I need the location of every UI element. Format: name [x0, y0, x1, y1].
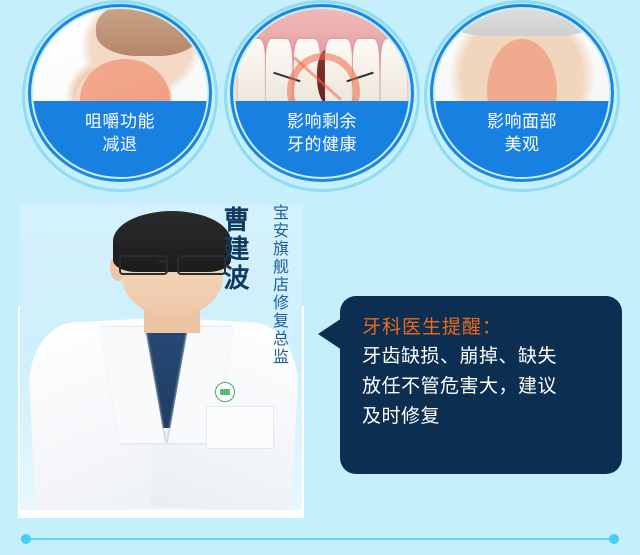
- doctor-name: 曹建波: [212, 206, 254, 293]
- divider-dot-right-icon: [609, 534, 619, 544]
- oval-image-clip: 咀嚼功能 减退: [33, 9, 207, 177]
- card-label-line2: 牙的健康: [235, 133, 409, 156]
- doctor-title: 宝安旗舰店修复总监: [258, 204, 288, 366]
- oval-image-clip: 影响剩余 牙的健康: [235, 9, 409, 177]
- card-label-line1: 影响剩余: [235, 110, 409, 133]
- oval-image-clip: 影响面部 美观: [435, 9, 609, 177]
- speech-bubble-tail: [318, 318, 342, 350]
- bubble-body: 牙齿缺损、崩掉、缺失 放任不管危害大，建议 及时修复: [362, 342, 606, 432]
- card-label-line2: 美观: [435, 133, 609, 156]
- bubble-heading: 牙科医生提醒：: [362, 314, 606, 342]
- card-label-remaining-teeth: 影响剩余 牙的健康: [235, 101, 409, 177]
- glasses-icon: [119, 255, 226, 270]
- risk-card-remaining-teeth[interactable]: 影响剩余 牙的健康: [224, 0, 420, 192]
- bubble-body-line2: 放任不管危害大，建议: [362, 372, 606, 402]
- card-label-line1: 影响面部: [435, 110, 609, 133]
- card-label-line1: 咀嚼功能: [33, 110, 207, 133]
- risk-cards-row: 咀嚼功能 减退 影响剩余 牙的健康: [0, 0, 640, 196]
- card-label-facial-appearance: 影响面部 美观: [435, 101, 609, 177]
- decorative-divider: [26, 538, 614, 540]
- clinic-logo-badge: [215, 382, 235, 402]
- risk-card-facial-appearance[interactable]: 影响面部 美观: [424, 0, 620, 192]
- bubble-body-line1: 牙齿缺损、崩掉、缺失: [362, 342, 606, 372]
- speech-bubble: 牙科医生提醒： 牙齿缺损、崩掉、缺失 放任不管危害大，建议 及时修复: [340, 296, 622, 474]
- risk-card-chewing[interactable]: 咀嚼功能 减退: [22, 0, 218, 192]
- bubble-body-line3: 及时修复: [362, 402, 606, 432]
- divider-dot-left-icon: [21, 534, 31, 544]
- card-label-chewing: 咀嚼功能 减退: [33, 101, 207, 177]
- card-label-line2: 减退: [33, 133, 207, 156]
